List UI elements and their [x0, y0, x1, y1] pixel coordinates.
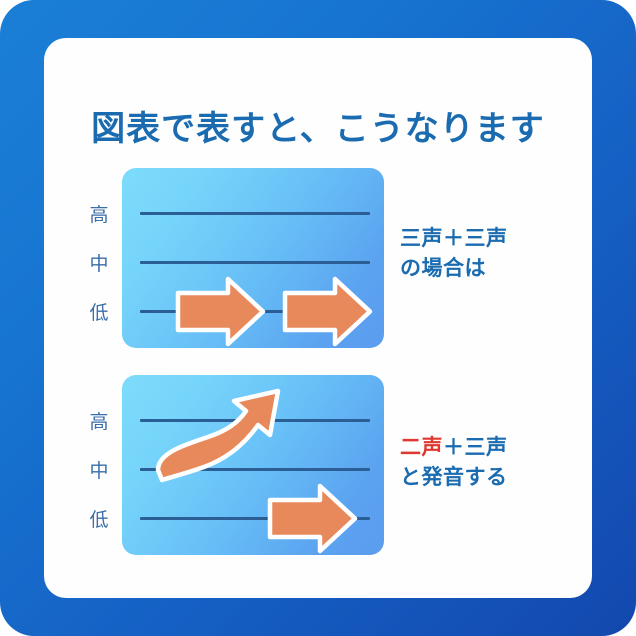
straight-arrow-low-left	[178, 279, 263, 344]
axis-label-high-1: 高	[84, 206, 114, 225]
axis-label-low-2: 低	[84, 511, 114, 530]
axis-label-low-1: 低	[84, 304, 114, 323]
axis-labels-2: 高 中 低	[84, 375, 114, 555]
caption-1-line-2: の場合は	[400, 254, 585, 284]
caption-2-accent: 二声	[400, 435, 443, 459]
caption-2-line-1-rest: ＋三声	[443, 435, 508, 459]
rising-curved-arrow	[158, 391, 278, 480]
outer-blue-frame: 図表で表すと、こうなります 高 中 低	[0, 0, 636, 636]
caption-2-line-2: と発音する	[400, 463, 585, 493]
diagram-row-1: 高 中 低 三声	[44, 168, 592, 348]
axis-label-mid-2: 中	[84, 462, 114, 481]
straight-arrow-low-right	[285, 279, 370, 344]
inner-white-card: 図表で表すと、こうなります 高 中 低	[44, 38, 592, 598]
arrow-layer-1	[122, 168, 384, 348]
axis-label-high-2: 高	[84, 413, 114, 432]
caption-1: 三声＋三声 の場合は	[400, 224, 585, 284]
straight-arrow-low-2	[270, 486, 355, 551]
tone-panel-1	[122, 168, 384, 348]
tone-panel-2	[122, 375, 384, 555]
arrow-layer-2	[122, 375, 384, 555]
caption-2-line-1: 二声＋三声	[400, 433, 585, 463]
axis-labels-1: 高 中 低	[84, 168, 114, 348]
axis-label-mid-1: 中	[84, 255, 114, 274]
caption-1-line-1: 三声＋三声	[400, 224, 585, 254]
diagram-row-2: 高 中 低 二声	[44, 375, 592, 555]
caption-2: 二声＋三声 と発音する	[400, 433, 585, 493]
page-title: 図表で表すと、こうなります	[44, 112, 592, 146]
